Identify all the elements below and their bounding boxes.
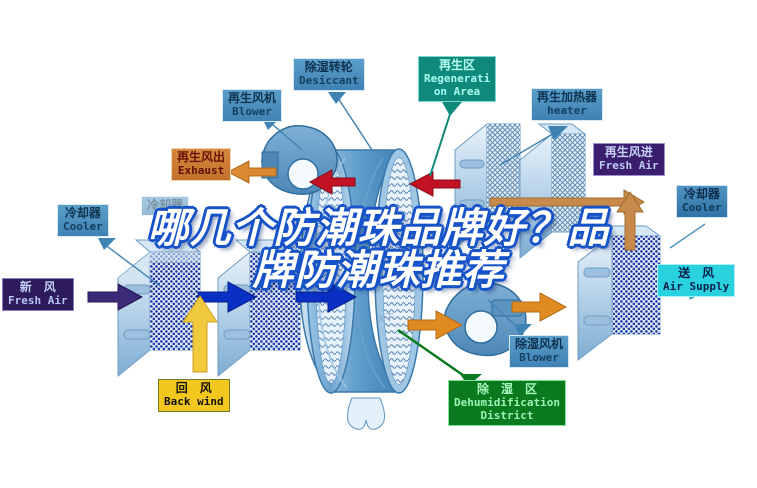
callout-back-wind[interactable]: 回 风 Back wind — [158, 379, 230, 412]
arrow-regen-intake — [490, 190, 644, 250]
cooler-left-unit — [118, 240, 200, 376]
callout-exhaust-en: Exhaust — [177, 165, 225, 177]
callout-regen-blower[interactable]: 再生风机 Blower — [222, 89, 282, 122]
callout-tails — [98, 92, 568, 386]
callout-dehumid-blower-en: Blower — [515, 352, 563, 364]
callout-air-supply-cn: 送 风 — [663, 267, 729, 280]
callout-regen-fresh-air-in-en: Fresh Air — [599, 160, 659, 172]
arrow-process-2 — [296, 282, 356, 312]
callout-fresh-air-in-cn: 新 风 — [8, 281, 68, 294]
callout-desiccant-wheel-cn: 除湿转轮 — [299, 61, 359, 74]
callout-cooler-right[interactable]: 冷却器 Cooler — [676, 185, 728, 218]
callout-desiccant-wheel[interactable]: 除湿转轮 Desiccant — [293, 58, 365, 91]
callout-leader-lines — [104, 98, 705, 380]
callout-regeneration-area[interactable]: 再生区 Regenerati on Area — [418, 56, 496, 102]
cooler-right-unit — [578, 226, 660, 360]
callout-regen-heater-cn: 再生加热器 — [537, 91, 597, 104]
callout-cooler-left[interactable]: 冷却器 Cooler — [57, 204, 109, 237]
callout-back-wind-en: Back wind — [164, 396, 224, 408]
diagram-artwork — [0, 0, 757, 488]
callout-dehumidification-district[interactable]: 除 湿 区 Dehumidification District — [448, 380, 566, 426]
callout-back-wind-cn: 回 风 — [164, 382, 224, 395]
callout-regen-blower-cn: 再生风机 — [228, 92, 276, 105]
callout-cooler-left-en: Cooler — [63, 221, 103, 233]
callout-cooler-left-occluded-cn: 冷却器 — [147, 199, 183, 212]
callout-regeneration-area-cn: 再生区 — [424, 59, 490, 72]
callout-cooler-left-occluded[interactable]: 冷却器 — [141, 196, 189, 216]
regen-heater-unit — [455, 124, 520, 248]
callout-air-supply-en: Air Supply — [663, 281, 729, 293]
callout-regeneration-area-en2: on Area — [424, 86, 490, 98]
desiccant-rotor — [300, 149, 423, 429]
callout-regen-fresh-air-in-cn: 再生风进 — [599, 146, 659, 159]
overlay-headline: 哪几个防潮珠品牌好？品 牌防潮珠推荐 — [0, 208, 757, 292]
callout-exhaust[interactable]: 再生风出 Exhaust — [171, 148, 231, 181]
arrow-regen-return — [310, 170, 355, 194]
regen-coil-unit-2 — [520, 124, 585, 258]
arrow-fresh-air-in — [88, 284, 142, 310]
arrow-regen-hot — [410, 172, 460, 196]
callout-fresh-air-in-en: Fresh Air — [8, 295, 68, 307]
callout-dehumidification-district-en1: Dehumidification — [454, 397, 560, 409]
callout-dehumidification-district-en2: District — [454, 410, 560, 422]
callout-air-supply[interactable]: 送 风 Air Supply — [657, 264, 735, 297]
callout-dehumidification-district-cn: 除 湿 区 — [454, 383, 560, 396]
callout-regen-blower-en: Blower — [228, 106, 276, 118]
callout-dehumid-blower-cn: 除湿风机 — [515, 338, 563, 351]
overlay-headline-line2: 牌防潮珠推荐 — [0, 250, 757, 292]
callout-fresh-air-in[interactable]: 新 风 Fresh Air — [2, 278, 74, 311]
arrow-process-4 — [512, 293, 566, 321]
overlay-headline-line1: 哪几个防潮珠品牌好？品 — [148, 204, 610, 252]
callout-cooler-left-cn: 冷却器 — [63, 207, 103, 220]
coil-block-2 — [218, 240, 300, 376]
regen-blower-unit — [262, 126, 337, 194]
callout-desiccant-wheel-en: Desiccant — [299, 75, 359, 87]
arrow-process-1 — [198, 282, 256, 312]
arrow-back-wind — [183, 296, 217, 372]
callout-cooler-right-cn: 冷却器 — [682, 188, 722, 201]
callout-regen-fresh-air-in[interactable]: 再生风进 Fresh Air — [593, 143, 665, 176]
arrow-process-3 — [408, 311, 462, 339]
callout-regen-heater[interactable]: 再生加热器 heater — [531, 88, 603, 121]
arrow-exhaust — [228, 161, 276, 183]
dehumidifier-process-diagram: 除湿转轮 Desiccant 再生风机 Blower 再生区 Regenerat… — [0, 0, 757, 488]
callout-cooler-right-en: Cooler — [682, 202, 722, 214]
callout-regen-heater-en: heater — [537, 105, 597, 117]
callout-regeneration-area-en1: Regenerati — [424, 73, 490, 85]
callout-dehumid-blower[interactable]: 除湿风机 Blower — [509, 335, 569, 368]
watermark-text: xT — [378, 310, 394, 325]
callout-exhaust-cn: 再生风出 — [177, 151, 225, 164]
